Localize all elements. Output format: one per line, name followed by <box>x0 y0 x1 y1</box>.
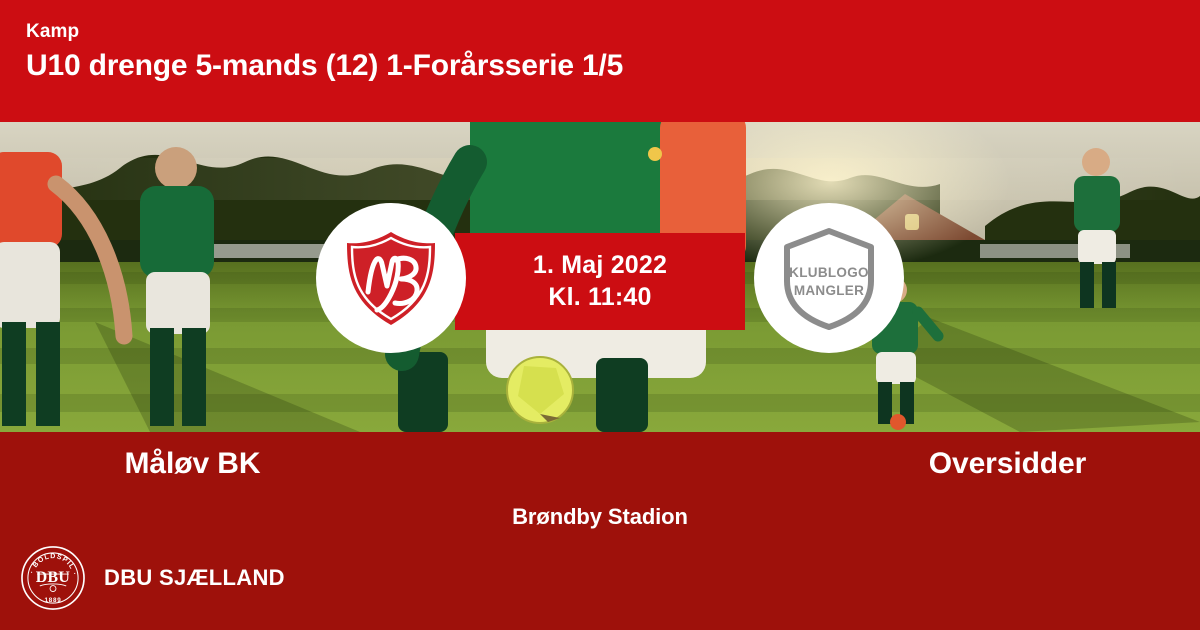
emblem-year: 1889 <box>44 597 61 604</box>
emblem-center-text: DBU <box>36 569 71 586</box>
team-names-row: Måløv BK Oversidder <box>0 446 1200 482</box>
logo-placeholder-line1: KLUBLOGO <box>789 265 869 280</box>
missing-club-logo-icon: KLUBLOGO MANGLER <box>777 223 881 333</box>
match-datetime-band: 1. Maj 2022 Kl. 11:40 <box>455 233 745 330</box>
match-promo-card: Kamp U10 drenge 5-mands (12) 1-Forårsser… <box>0 0 1200 630</box>
home-team-name: Måløv BK <box>0 446 600 482</box>
page-title: U10 drenge 5-mands (12) 1-Forårsserie 1/… <box>26 49 1200 84</box>
organization-name: DBU SJÆLLAND <box>104 565 285 591</box>
organization-branding: DANSK · BOLDSPIL · UNION DBU 1889 DBU SJ… <box>20 545 285 611</box>
venue-name: Brøndby Stadion <box>0 504 1200 530</box>
header-kicker: Kamp <box>26 22 1200 43</box>
away-club-badge: KLUBLOGO MANGLER <box>754 203 904 353</box>
football <box>507 357 573 423</box>
maalov-bk-shield-icon <box>339 226 443 330</box>
home-club-badge <box>316 203 466 353</box>
match-time: Kl. 11:40 <box>548 282 651 314</box>
logo-placeholder-line2: MANGLER <box>794 283 864 298</box>
match-date: 1. Maj 2022 <box>533 250 667 282</box>
header-banner: Kamp U10 drenge 5-mands (12) 1-Forårsser… <box>0 0 1200 122</box>
dbu-emblem-icon: DANSK · BOLDSPIL · UNION DBU 1889 <box>20 545 86 611</box>
away-team-name: Oversidder <box>600 446 1200 482</box>
